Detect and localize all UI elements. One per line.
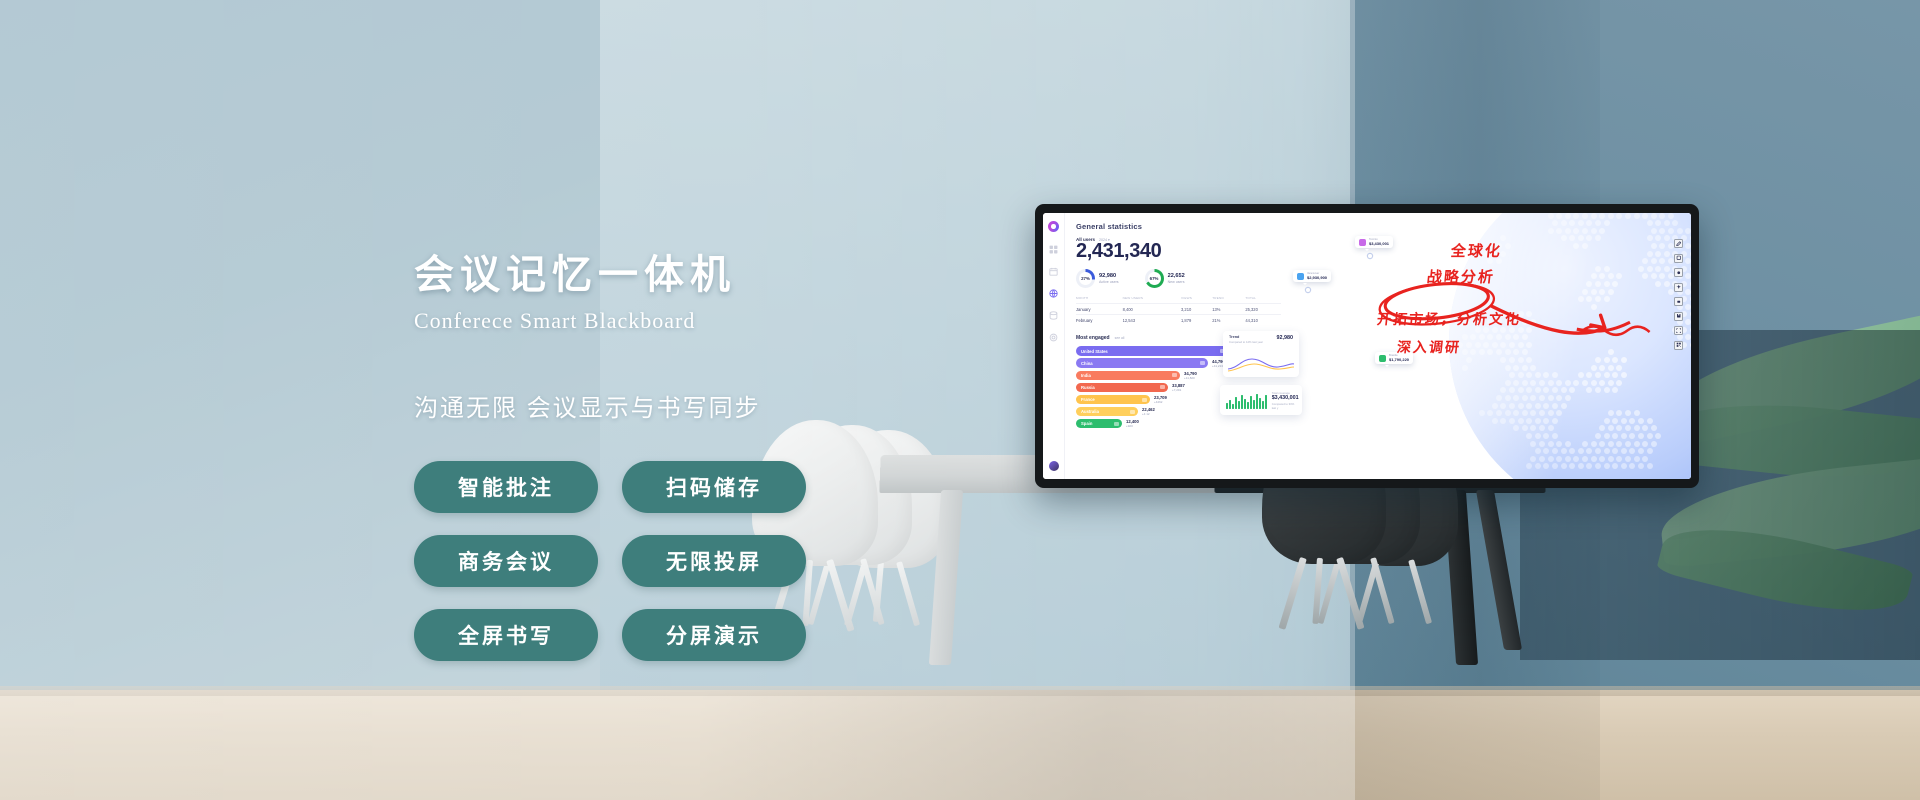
avatar[interactable] [1049,461,1059,471]
feature-pill-unlimited-cast[interactable]: 无限投屏 [622,535,806,587]
country-name: China [1081,361,1093,366]
page-heading: General statistics [1076,222,1281,231]
bar [1226,403,1228,409]
qr-icon[interactable] [1674,341,1683,350]
column-header: MONTH [1076,296,1123,304]
trend-sparkline [1228,355,1294,373]
bar [1244,399,1246,409]
eraser-icon[interactable] [1674,254,1683,263]
hardware-toolbar [1674,239,1687,350]
flag-icon [1172,373,1178,377]
dashboard-main: General statistics All users 2024 ▾ 2,43… [1065,213,1691,479]
country-delta: +4 12 [1142,412,1155,416]
feature-pill-business-meeting[interactable]: 商务会议 [414,535,598,587]
column-header: TREND [1212,296,1245,304]
stats-table: MONTHNEW USERSVIEWSTRENDTOTAL January8,4… [1076,296,1281,325]
display-screen[interactable]: General statistics All users 2024 ▾ 2,43… [1043,213,1691,479]
country-name: Spain [1081,421,1092,426]
page-title: 会议记忆一体机 [414,250,934,300]
donut-new-users: 67% 22,652 New users [1145,269,1185,288]
map-dot [1306,288,1310,292]
feature-pill-fullscreen-write[interactable]: 全屏书写 [414,609,598,661]
all-users-value: 2,431,340 [1076,241,1281,262]
hero-tagline: 沟通无限 会议显示与书写同步 [414,388,934,423]
country-name: India [1081,373,1091,378]
table-cell: 3,210 [1181,304,1212,315]
bar [1256,394,1258,409]
card-subtitle: Compared to 30% last y [1272,402,1299,410]
bar [1235,397,1237,409]
country-name: United States [1081,349,1108,354]
donut-value: 92,980 [1099,273,1119,279]
save-icon[interactable] [1674,312,1683,321]
column-header: VIEWS [1181,296,1212,304]
marker-value: $3,430,001 [1369,241,1389,246]
donut-label: Active users [1099,280,1119,284]
brightness-icon[interactable] [1674,297,1683,306]
select-icon[interactable] [1674,283,1683,292]
total-coverage-card[interactable]: Total coverage $3,430,001 Compared to 30… [1220,385,1302,415]
donut-pct: 67% [1150,276,1159,281]
table-cell: 8,400 [1123,304,1181,315]
flag-icon [1130,410,1136,414]
table-cell: 21% [1212,315,1245,326]
page-subtitle-en: Conferece Smart Blackboard [414,308,934,334]
coverage-bar-chart [1226,392,1267,409]
map-marker-vancouver[interactable]: Vancouver $2,930,900 [1293,270,1331,282]
feature-pill-split-present[interactable]: 分屏演示 [622,609,806,661]
bar [1247,402,1249,409]
table-cell: 1,879 [1181,315,1212,326]
country-delta: +11,820 [1184,376,1197,380]
bar [1229,400,1231,409]
gear-icon[interactable] [1049,333,1058,342]
bar [1253,400,1255,409]
card-value: $3,430,001 [1272,395,1299,401]
table-cell: 44,310 [1245,315,1281,326]
pen-icon[interactable] [1674,239,1683,248]
donut-value: 22,652 [1168,273,1185,279]
bar [1238,401,1240,409]
country-delta: +7,201 [1172,388,1185,392]
table-cell: 13% [1212,304,1245,315]
globe-fade-overlay [1449,213,1691,479]
column-header: NEW USERS [1123,296,1181,304]
column-header: TOTAL [1245,296,1281,304]
globe-icon[interactable] [1049,289,1058,298]
donut-active-users: 27% 92,980 Active users [1076,269,1119,288]
map-marker-brasilia[interactable]: Brasilia $1,790,220 [1375,352,1413,364]
country-delta: +920 [1126,424,1139,428]
card-subtitle: Compared to 12% last year [1229,340,1263,344]
brand-logo-icon [1048,221,1059,232]
donut-label: New users [1168,280,1185,284]
table-row: February12,5431,87921%44,310 [1076,315,1281,326]
bar [1259,398,1261,409]
country-delta: +4462 [1154,400,1167,404]
calendar-icon[interactable] [1049,267,1058,276]
smart-blackboard-display: General statistics All users 2024 ▾ 2,43… [1035,204,1699,488]
trend-card[interactable]: Trend Compared to 12% last year 92,980 [1223,331,1299,377]
table-cell: January [1076,304,1123,315]
flag-icon [1142,398,1148,402]
table-row: January8,4003,21013%25,320 [1076,304,1281,315]
donut-chart-icon: 27% [1076,269,1095,288]
country-name: Australia [1081,409,1099,414]
bar [1241,395,1243,409]
marker-value: $1,790,220 [1389,357,1409,362]
table-cell: 25,320 [1245,304,1281,315]
donut-chart-icon: 67% [1145,269,1164,288]
hero-copy: 会议记忆一体机 Conferece Smart Blackboard 沟通无限 … [414,250,934,661]
floor-shadow [700,690,1600,800]
card-value: 92,980 [1277,335,1294,341]
feature-pill-qr-storage[interactable]: 扫码储存 [622,461,806,513]
map-marker-toronto[interactable]: Toronto $3,430,001 [1355,236,1393,248]
flag-icon [1160,385,1166,389]
flag-icon [1200,361,1206,365]
feature-pill-smart-annotation[interactable]: 智能批注 [414,461,598,513]
table-header-row: MONTHNEW USERSVIEWSTRENDTOTAL [1076,296,1281,304]
flag-icon [1114,422,1120,426]
capture-icon[interactable] [1674,326,1683,335]
country-name: France [1081,397,1095,402]
bar [1250,396,1252,409]
donut-pct: 27% [1081,276,1090,281]
table-cell: 12,543 [1123,315,1181,326]
card-title: Trend [1229,335,1263,339]
marker-value: $2,930,900 [1307,275,1327,280]
feature-pill-grid: 智能批注 扫码储存 商务会议 无限投屏 全屏书写 分屏演示 [414,461,934,661]
bar [1262,401,1264,409]
database-icon[interactable] [1049,311,1058,320]
most-engaged-select[interactable]: see all [1115,336,1125,340]
table-cell: February [1076,315,1123,326]
dashboard-sidebar [1043,213,1065,479]
grid-icon[interactable] [1049,245,1058,254]
map-dot [1368,254,1372,258]
most-engaged-label: Most engaged [1076,335,1110,341]
shape-icon[interactable] [1674,268,1683,277]
bar [1232,404,1234,409]
bar [1265,395,1267,409]
list-item[interactable]: Spain12,400+920 [1076,419,1281,429]
donut-group: 27% 92,980 Active users 67% 22,652 [1076,269,1281,288]
country-name: Russia [1081,385,1095,390]
